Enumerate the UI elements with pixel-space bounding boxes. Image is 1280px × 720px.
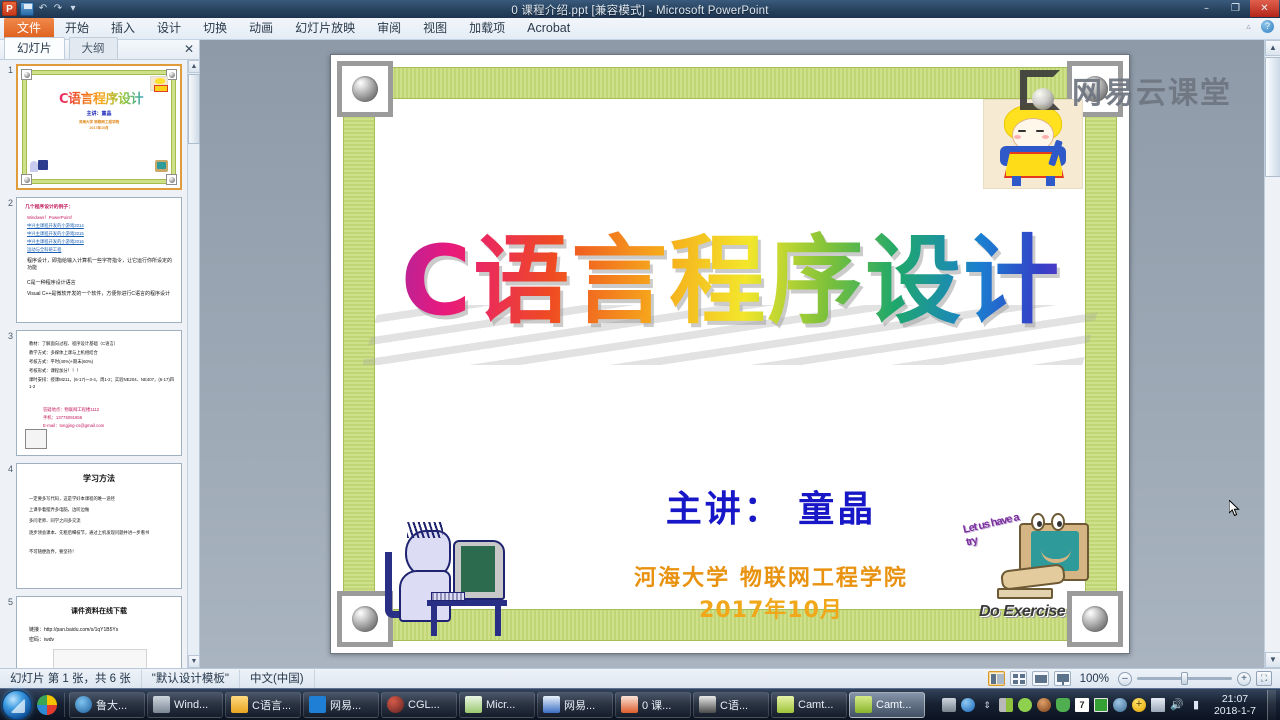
zoom-level: 100% [1076,673,1113,685]
shield-green-icon[interactable] [1056,698,1070,712]
start-button[interactable] [2,690,32,720]
taskbar-item-camtasia-recorder[interactable]: Camt... [849,692,925,718]
slide-thumbnail-5[interactable]: 课件资料在线下载 链接：http://pan.baidu.com/s/1qY1B… [16,596,182,668]
taskbar-label: Camt... [798,699,833,711]
thumb3-contact-2: E-mail：tongjing-cs@gmail.com [43,423,104,429]
thumb-date: 2017年10月 [18,126,180,131]
windows-explorer-icon [153,696,170,713]
tab-slideshow[interactable]: 幻灯片放映 [284,18,366,40]
current-slide[interactable]: C语言程序设计 主讲： 童晶 河海大学 物联网工程学院 2017年10月 Let… [330,54,1130,654]
slide-thumbnail-list[interactable]: 1 C语言程序设计 主讲：童晶 河海大学 物联网工程学院 2017年10月 [0,60,187,668]
scroll-up-icon[interactable]: ▲ [188,60,200,73]
onenote-icon [699,696,716,713]
help-icon[interactable]: ? [1261,20,1274,33]
tab-animations[interactable]: 动画 [238,18,284,40]
quick-launch-item[interactable] [34,692,60,718]
powerpoint-window: P ↶ ↷ ▾ 0 课程介绍.ppt [兼容模式] - Microsoft Po… [0,0,1280,720]
sphere-icon [352,606,378,632]
ribbon-tabs: 文件 开始 插入 设计 切换 动画 幻灯片放映 审阅 视图 加载项 Acroba… [0,18,1280,40]
sphere-icon [352,76,378,102]
volume-icon[interactable]: 🔊 [1170,698,1184,712]
status-bar: 幻灯片 第 1 张，共 6 张 "默认设计模板" 中文(中国) 100% – +… [0,668,1280,688]
slides-pane-tabs: 幻灯片 大纲 ✕ [0,40,199,60]
taskbar-label: Wind... [174,699,208,711]
kid-cheek-left [1014,135,1021,139]
thumb5-bullet-0: 链接：http://pan.baidu.com/s/1qY1B5Ys [29,627,179,633]
thumb2-link-1: 中兴主课程开发的小游戏2014 [27,223,84,229]
slides-pane-scrollbar[interactable]: ▲ ▼ [187,60,199,668]
list-item[interactable]: 3 教材：了解面向过程、程序设计基础（C语言） 教学方式：多媒体上课与上机相结合… [4,330,187,456]
computer-keyboard [997,588,1053,599]
thumb-corner-tl [21,69,32,80]
desk-leg-right [495,606,501,636]
taskbar-label: 鲁大... [96,697,127,713]
thumb4-heading: 学习方法 [17,476,181,482]
taskbar-item-onenote[interactable]: C语... [693,692,769,718]
tab-transitions[interactable]: 切换 [192,18,238,40]
folder-icon [231,696,248,713]
thumb2-link-4: 运动与全科研工程 [27,247,61,253]
collapse-ribbon-icon[interactable]: ▵ [1242,20,1255,33]
window-controls[interactable]: – ❐ ✕ [1192,0,1279,17]
corner-ornament-top-left [337,61,393,117]
thumb5-bullet-1: 密码：iwdv [29,637,179,643]
thumb5-heading: 课件资料在线下载 [17,609,181,615]
frame-left [343,103,375,605]
pane-tab-slides[interactable]: 幻灯片 [4,37,65,59]
list-item[interactable]: 1 C语言程序设计 主讲：童晶 河海大学 物联网工程学院 2017年10月 [4,64,187,190]
tab-design[interactable]: 设计 [146,18,192,40]
taskbar-item-cgl[interactable]: CGL... [381,692,457,718]
thumb3-contact-1: 手机：13775091855 [43,415,82,421]
slide-editing-area[interactable]: C语言程序设计 主讲： 童晶 河海大学 物联网工程学院 2017年10月 Let… [200,40,1280,668]
window-title: 0 课程介绍.ppt [兼容模式] - Microsoft PowerPoint [0,2,1280,18]
scroll-down-icon[interactable]: ▼ [1265,652,1280,668]
close-button[interactable]: ✕ [1250,0,1279,17]
fit-to-window-button[interactable]: ⛶ [1256,671,1272,686]
taskbar-item-maxthon[interactable]: 网易... [303,692,379,718]
main-vertical-scrollbar[interactable]: ▲ ▼ [1264,40,1280,668]
thumb3-bullet-0: 教材：了解面向过程、程序设计基础（C语言） [29,341,175,347]
thumb4-bullet-1: 上课争着摆弄多电脑，边听边做 [29,507,175,513]
status-slide-count: 幻灯片 第 1 张，共 6 张 [0,670,142,688]
close-icon: ✕ [1260,3,1268,14]
taskbar-item-camtasia-editor[interactable]: Camt... [771,692,847,718]
calendar-7-icon[interactable]: 7 [1075,698,1089,712]
kid-cheek-right [1042,135,1049,139]
normal-view-button[interactable] [988,671,1005,686]
slide-thumbnail-2[interactable]: 几个程序设计的例子： Windows！PowerPoint！ 中兴主课程开发的小… [16,197,182,323]
slide-thumbnail-3[interactable]: 教材：了解面向过程、程序设计基础（C语言） 教学方式：多媒体上课与上机相结合 考… [16,330,182,456]
thumb2-bullet-0: 程序设计，即指给输入计算机一些字符指令，让它运行你所设定的功能 [27,258,173,272]
thumb-org: 河海大学 物联网工程学院 [18,120,180,125]
do-exercise-clipart[interactable]: Let us have a try Do Exercise [967,511,1099,621]
zoom-in-button[interactable]: + [1237,672,1251,686]
word-icon [543,696,560,713]
thumb-title: C语言程序设计 [30,88,172,107]
list-item[interactable]: 5 课件资料在线下载 链接：http://pan.baidu.com/s/1qY… [4,596,187,668]
keyboard-shape [431,592,465,601]
powerpoint-icon [621,696,638,713]
status-template[interactable]: "默认设计模板" [142,670,240,688]
thumb-exercise-clipart [148,158,170,176]
taskbar-label: C语... [720,697,748,713]
show-desktop-button[interactable] [1267,690,1276,720]
taskbar-item-excel[interactable]: Micr... [459,692,535,718]
status-language[interactable]: 中文(中国) [240,670,315,688]
cgl-icon [387,696,404,713]
slide-show-view-button[interactable] [1054,671,1071,686]
ludashi-icon [75,696,92,713]
thumb3-bullet-3: 考核形式：课程加分！！！ [29,368,175,374]
thumb-person-clipart [30,158,48,174]
thumb2-bullet-2: Visual C++是微软开发的一个软件，方便你进行C语言的程序设计 [27,291,173,298]
contact-icon[interactable] [1113,698,1127,712]
tab-acrobat[interactable]: Acrobat [516,18,581,40]
cloud-icon[interactable] [1018,698,1032,712]
taskbar-label: C语言... [252,697,291,713]
network-icon[interactable]: ▮ [1189,698,1203,712]
computer-arms [1000,563,1066,591]
slide-thumbnail-1[interactable]: C语言程序设计 主讲：童晶 河海大学 物联网工程学院 2017年10月 [16,64,182,190]
slide-number: 4 [4,463,16,589]
thumb4-bullet-0: 一定要多写代码，这是学好本课程的唯一途径 [29,496,175,502]
minimize-button[interactable]: – [1192,0,1221,17]
excel-icon [465,696,482,713]
thumb2-heading: 几个程序设计的例子： [25,205,73,211]
monitor-screen [461,546,495,592]
ribbon-tab-bar: 文件 开始 插入 设计 切换 动画 幻灯片放映 审阅 视图 加载项 Acroba… [0,18,1280,40]
slide-title-wordart[interactable]: C语言程序设计 [361,225,1101,337]
ribbon-right-controls: ▵ ? [1242,20,1274,33]
tab-addins[interactable]: 加载项 [458,18,516,40]
reading-view-button[interactable] [1032,671,1049,686]
tab-review[interactable]: 审阅 [366,18,412,40]
taskbar-item-folder[interactable]: C语言... [225,692,301,718]
kid-at-desk-clipart[interactable] [983,99,1083,189]
plus-yellow-icon[interactable]: + [1132,698,1146,712]
thumb3-bullet-2: 考核方式：平时(40%)+期末(60%) [29,359,175,365]
battery-icon[interactable] [1151,698,1165,712]
thumb2-link-2: 中兴主课程开发的小游戏2015 [27,231,84,237]
clock-date: 2018-1-7 [1214,705,1256,717]
camtasia-recorder-icon [855,696,872,713]
thumb2-bullet-1: C是一种程序设计语言 [27,280,173,286]
zoom-slider-handle[interactable] [1181,672,1188,685]
person-hair [407,522,443,538]
thumb4-bullet-3: 逐步领会课本、先粗后细枝节，通过上机发现问题并进一步看书 [29,529,175,536]
colorful-app-icon[interactable] [37,695,57,715]
maximize-button[interactable]: ❐ [1221,0,1250,17]
computer-eye-left [1031,513,1045,531]
slide-number: 1 [4,64,16,190]
taskbar-item-windows-explorer[interactable]: Wind... [147,692,223,718]
list-item[interactable]: 4 学习方法 一定要多写代码，这是学好本课程的唯一途径 上课争着摆弄多电脑，边听… [4,463,187,589]
thumb3-contact-0: 答疑地点：物联网工程楼1112 [43,407,99,413]
clock-time: 21:07 [1214,693,1256,705]
kid-eye-right [1036,130,1044,132]
frame-top [379,67,1081,99]
desk-leg-left [431,606,437,636]
sphere-icon [1082,76,1108,102]
thumb-presenter: 主讲：童晶 [18,110,180,117]
computer-eye-right [1051,513,1065,531]
minimize-icon: – [1204,3,1209,14]
scroll-up-icon[interactable]: ▲ [1265,40,1280,56]
scrollbar-thumb[interactable] [1265,57,1280,177]
scrollbar-thumb[interactable] [188,74,200,144]
do-exercise-label: Do Exercise [979,603,1065,621]
arrows-icon[interactable]: ⇕ [980,698,994,712]
taskbar-label: Micr... [486,699,515,711]
kid-leg-right [1046,176,1055,186]
maxthon-icon [309,696,326,713]
taskbar-divider [64,693,65,717]
kid-eye-left [1018,130,1026,132]
taskbar-label: 0 课... [642,697,671,713]
user-brown-icon[interactable] [1037,698,1051,712]
close-pane-icon[interactable]: ✕ [184,42,194,56]
taskbar-label: 网易... [330,697,361,713]
thumb3-bullet-4: 课时安排：授课M211，(6-17)一3-4，周1-2；实验NE204、NE40… [29,377,175,390]
monitor-icon[interactable] [942,698,956,712]
help-blue-icon[interactable] [961,698,975,712]
thumb2-link-3: 中兴主课程开发的小游戏2016 [27,239,84,245]
pane-tab-outline[interactable]: 大纲 [69,37,118,59]
slide-thumbnail-4[interactable]: 学习方法 一定要多写代码，这是学好本课程的唯一途径 上课争着摆弄多电脑，边听边做… [16,463,182,589]
thumb-frame-top [27,70,171,75]
kid-leg-left [1012,176,1021,186]
title-bar: P ↶ ↷ ▾ 0 课程介绍.ppt [兼容模式] - Microsoft Po… [0,0,1280,18]
system-tray[interactable]: ⇕ 7 + 🔊 ▮ 21:07 2018-1-7 [942,690,1280,720]
tools-icon[interactable] [999,698,1013,712]
slide-number: 5 [4,596,16,668]
camtasia-editor-icon [777,696,794,713]
thumb4-bullet-2: 多问老师、同学之间多交流 [29,518,175,524]
windows-taskbar: 鲁大... Wind... C语言... 网易... CGL... Micr..… [0,688,1280,720]
scroll-down-icon[interactable]: ▼ [188,655,200,668]
slide-number: 2 [4,197,16,323]
list-item[interactable]: 2 几个程序设计的例子： Windows！PowerPoint！ 中兴主课程开发… [4,197,187,323]
thumb-frame-bottom [27,179,171,184]
maximize-icon: ❐ [1231,3,1240,14]
thumb5-screenshot [53,649,147,668]
taskbar-label: 网易... [564,697,595,713]
slides-pane: 幻灯片 大纲 ✕ 1 C语言程序设计 [0,40,200,668]
thumb2-link-0: Windows！PowerPoint！ [27,215,75,221]
zoom-slider[interactable] [1137,677,1232,680]
tab-view[interactable]: 视图 [412,18,458,40]
thumb3-clipart [25,429,47,449]
taskbar-label: CGL... [408,699,440,711]
thumb3-bullet-1: 教学方式：多媒体上课与上机相结合 [29,350,175,356]
slide-number: 3 [4,330,16,456]
thumb-corner-bl [21,174,32,185]
zoom-out-button[interactable]: – [1118,672,1132,686]
taskbar-item-powerpoint[interactable]: 0 课... [615,692,691,718]
taskbar-item-ludashi[interactable]: 鲁大... [69,692,145,718]
taskbar-clock[interactable]: 21:07 2018-1-7 [1208,693,1262,717]
taskbar-label: Camt... [876,699,911,711]
person-at-computer-clipart[interactable] [383,518,513,643]
taskbar-item-word[interactable]: 网易... [537,692,613,718]
thumb4-bullet-4: 不可随便放弃，要坚持！ [29,549,175,555]
note-green-icon[interactable] [1094,698,1108,712]
status-right-controls: 100% – + ⛶ [988,671,1280,686]
slide-sorter-view-button[interactable] [1010,671,1027,686]
